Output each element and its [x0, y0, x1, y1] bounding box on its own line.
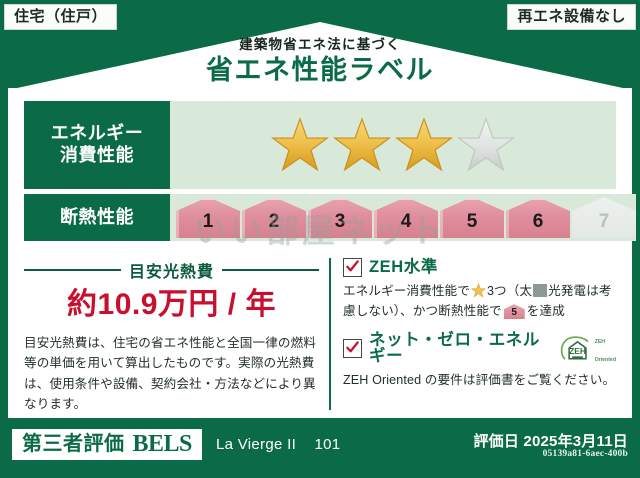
- net-zero-description: ZEH Oriented の要件は評価書をご覧ください。: [343, 370, 616, 390]
- row-energy-performance: エネルギー 消費性能: [24, 101, 616, 189]
- zeh-desc-part2: 3つ（太: [487, 284, 532, 298]
- row-energy-label-line1: エネルギー: [51, 123, 144, 145]
- net-zero-title-row: ネット・ゼロ・エネルギー ZEH ZEH Oriented: [343, 330, 616, 366]
- zeh-standard-description: エネルギー消費性能で3つ（太光発電は考慮しない）、かつ断熱性能で5を達成: [343, 281, 616, 321]
- zeh-logo-caption-line1: ZEH: [595, 339, 605, 345]
- svg-text:ZEH: ZEH: [569, 346, 586, 356]
- inline-insulation-level-badge: 5: [504, 304, 525, 319]
- zeh-desc-part4: を達成: [527, 304, 565, 318]
- label-footer: 第三者評価 BELS La Vierge II 101 評価日 2025年3月1…: [0, 420, 640, 478]
- energy-cost-heading: 目安光熱費: [24, 258, 319, 282]
- unit-number: 101: [315, 436, 341, 453]
- insulation-level-2: 2: [242, 197, 306, 238]
- insulation-level-scale: 1 2 3 4 5: [170, 197, 636, 238]
- row-energy-label-line2: 消費性能: [60, 145, 134, 167]
- evaluation-date: 評価日 2025年3月11日: [473, 430, 628, 451]
- row-insulation-performance: 断熱性能 1 2 3: [24, 194, 616, 241]
- row-energy-value: [170, 101, 616, 189]
- redacted-block: [533, 284, 547, 297]
- star-rating: [271, 117, 515, 173]
- energy-cost-heading-text: 目安光熱費: [129, 258, 214, 282]
- energy-cost-value: 約10.9万円 / 年: [24, 288, 319, 321]
- bels-logo: 第三者評価 BELS: [12, 429, 202, 460]
- badge-renewable-equipment: 再エネ設備なし: [507, 4, 636, 30]
- row-insulation-label-line1: 断熱性能: [60, 207, 134, 229]
- row-insulation-value: 1 2 3 4 5: [170, 194, 636, 241]
- insulation-level-5-number: 5: [467, 212, 478, 238]
- row-energy-label: エネルギー 消費性能: [24, 101, 170, 189]
- insulation-level-3: 3: [308, 197, 372, 238]
- heading-rule-right: [222, 269, 319, 271]
- insulation-level-2-number: 2: [269, 212, 280, 238]
- checkbox-checked-icon: [343, 258, 362, 277]
- insulation-level-5: 5: [440, 197, 504, 238]
- zeh-section: ZEH水準 エネルギー消費性能で3つ（太光発電は考慮しない）、かつ断熱性能で5を…: [339, 258, 616, 410]
- building-name: La Vierge II: [216, 436, 296, 453]
- bels-energy-label: 住宅（住戸） 再エネ設備なし 建築物省エネ法に基づく 省エネ性能ラベル エネルギ…: [0, 0, 640, 478]
- label-title-block: 建築物省エネ法に基づく 省エネ性能ラベル: [0, 38, 640, 86]
- energy-cost-section: 目安光熱費 約10.9万円 / 年 目安光熱費は、住宅の省エネ性能と全国一律の燃…: [24, 258, 329, 410]
- zeh-house-icon: ZEH: [559, 335, 593, 361]
- check-icon-2: [345, 340, 360, 355]
- inline-insulation-number: 5: [504, 304, 525, 319]
- zeh-standard-title: ZEH水準: [369, 259, 438, 276]
- star-icon-filled-3: [395, 117, 453, 173]
- energy-cost-note: 目安光熱費は、住宅の省エネ性能と全国一律の燃料等の単価を用いて算出したものです。…: [24, 333, 319, 415]
- column-divider: [329, 258, 331, 410]
- check-icon: [345, 259, 360, 274]
- badge-dwelling-type: 住宅（住戸）: [4, 4, 117, 30]
- net-zero-energy-block: ネット・ゼロ・エネルギー ZEH ZEH Oriented: [343, 330, 616, 390]
- zeh-standard-block: ZEH水準 エネルギー消費性能で3つ（太光発電は考慮しない）、かつ断熱性能で5を…: [343, 258, 616, 321]
- insulation-level-6-number: 6: [533, 212, 544, 238]
- title-kicker: 建築物省エネ法に基づく: [0, 38, 640, 53]
- insulation-level-1-number: 1: [203, 212, 214, 238]
- lower-content: 目安光熱費 約10.9万円 / 年 目安光熱費は、住宅の省エネ性能と全国一律の燃…: [24, 258, 616, 410]
- zeh-logo-caption: ZEH Oriented: [595, 330, 616, 366]
- zeh-oriented-logo: ZEH ZEH Oriented: [559, 330, 616, 366]
- insulation-level-3-number: 3: [335, 212, 346, 238]
- bels-en-text: BELS: [133, 432, 192, 456]
- zeh-desc-part1: エネルギー消費性能で: [343, 284, 470, 298]
- insulation-level-4: 4: [374, 197, 438, 238]
- insulation-level-1: 1: [176, 197, 240, 238]
- checkbox-checked-icon-2: [343, 339, 362, 358]
- net-zero-title: ネット・ゼロ・エネルギー: [369, 332, 550, 365]
- row-insulation-label: 断熱性能: [24, 194, 170, 241]
- insulation-level-7-number: 7: [599, 212, 610, 238]
- zeh-standard-title-row: ZEH水準: [343, 258, 616, 277]
- bels-jp-text: 第三者評価: [22, 434, 125, 454]
- star-icon-filled-2: [333, 117, 391, 173]
- evaluation-id: 05139a81-6aec-400b: [543, 449, 628, 459]
- building-info: La Vierge II 101: [216, 436, 340, 453]
- star-icon-empty-4: [457, 117, 515, 173]
- performance-table: エネルギー 消費性能: [24, 101, 616, 246]
- insulation-level-7: 7: [572, 197, 636, 238]
- inline-star-icon: [471, 283, 486, 298]
- insulation-level-4-number: 4: [401, 212, 412, 238]
- heading-rule-left: [24, 269, 121, 271]
- star-icon-filled-1: [271, 117, 329, 173]
- zeh-logo-caption-line2: Oriented: [595, 357, 616, 363]
- page-title: 省エネ性能ラベル: [0, 56, 640, 86]
- insulation-level-6: 6: [506, 197, 570, 238]
